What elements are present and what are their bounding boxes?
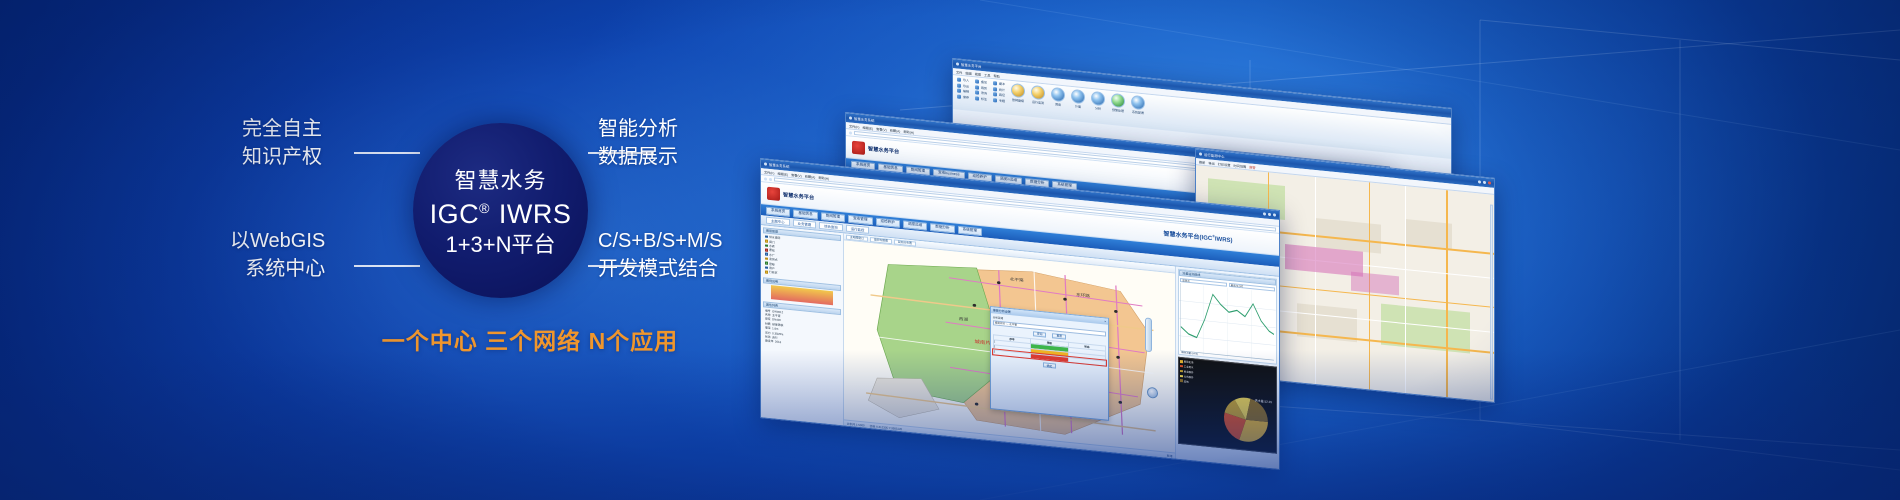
menu-item[interactable]: 编辑(E) (862, 124, 873, 130)
menu-item[interactable]: 收藏(A) (890, 127, 901, 133)
platform-title: 智慧水务平台(IGC®IWRS) (1164, 228, 1233, 244)
toolbar-item-alarm[interactable]: 报警 (1249, 164, 1255, 170)
ribbon-big-label: 计量 (1075, 104, 1081, 109)
nav-item[interactable]: 系统管理 (958, 225, 982, 235)
attr-value: 2016 (775, 340, 781, 345)
ribbon-big-button[interactable]: 预警处理 (1111, 93, 1125, 113)
nav-item[interactable]: 数据分析 (930, 223, 954, 233)
pie-legend-item: 其他 (1180, 379, 1193, 384)
toolbar-item[interactable]: 导出 (1208, 160, 1214, 166)
hub-code-secondary: IWRS (499, 199, 572, 229)
ribbon-item-label[interactable]: 路径 (999, 93, 1005, 98)
feature-bottom-left-line2: 系统中心 (230, 256, 325, 284)
toolbar-item[interactable]: 刷新 (1199, 159, 1205, 165)
statistics-icon[interactable] (993, 87, 997, 91)
ribbon-big-label: 预警处理 (1112, 108, 1124, 113)
hub-code-primary: IGC (430, 199, 480, 229)
ribbon-big-label: 运行监测 (1032, 100, 1044, 105)
ribbon-item-label[interactable]: 叠加 (981, 80, 987, 85)
layer-swatch-icon (765, 257, 768, 260)
company-logo-icon (852, 141, 865, 155)
chart-caption: 瞬时流量 (m³/h) (1181, 351, 1198, 357)
window-right-title: 运行监测中心 (1204, 152, 1224, 159)
subnav-item[interactable]: 综合查询 (819, 222, 843, 231)
label-icon[interactable] (975, 96, 979, 100)
ribbon-item-label[interactable]: 统计 (999, 87, 1005, 92)
ribbon-group: 导入 导出 编辑 保存 (957, 78, 969, 100)
nav-item[interactable]: 基础信息 (793, 209, 817, 219)
dialog-query-button[interactable]: 查询 (1033, 331, 1047, 337)
registered-mark-icon: ® (479, 200, 490, 216)
layer-swatch-icon (765, 235, 768, 238)
ribbon-big-button[interactable]: 分析 (1091, 91, 1105, 111)
layer-swatch-icon (765, 244, 768, 247)
back-arrow-icon[interactable] (849, 131, 852, 134)
menu-item[interactable]: 编辑(E) (777, 170, 788, 176)
window-middle-title: 智慧水务系统 (854, 116, 874, 123)
ribbon-big-label: 系统配置 (1132, 110, 1144, 115)
close-icon[interactable] (1273, 213, 1276, 216)
ribbon-big-button[interactable]: 运行监测 (1031, 85, 1045, 105)
ribbon-item-label[interactable]: 标注 (981, 96, 987, 101)
window-front-title: 智慧水务系统 (769, 162, 789, 169)
minimize-icon[interactable] (1478, 180, 1481, 183)
menu-item[interactable]: 查看(V) (876, 126, 887, 132)
metering-icon (1071, 89, 1085, 104)
status-coordinates: 坐标 X:412305 Y:3385120 (870, 423, 902, 430)
ribbon-big-button[interactable]: 计量 (1071, 89, 1085, 109)
connector-bottom-left (354, 265, 420, 267)
layer-tree-panel[interactable]: 图层管理 供水管网 阀门 水表 泵站 水厂 监测点 管段 用户 行政区 图例说明… (761, 225, 844, 425)
menu-item[interactable]: 编辑 (965, 70, 971, 76)
status-ready: 就绪 (1167, 453, 1173, 458)
window-icon (1199, 152, 1202, 155)
ribbon-item-label[interactable]: 缓冲 (999, 82, 1005, 87)
dialog-close-icon[interactable]: × (1104, 319, 1106, 323)
feature-top-left: 完全自主 知识产权 (242, 116, 322, 171)
layer-swatch-icon (765, 262, 768, 265)
monitoring-side-panel: 流量监测曲线 监测点 最近24小时 (1175, 267, 1279, 469)
menu-item[interactable]: 视图 (975, 71, 981, 77)
clip-icon[interactable] (975, 85, 979, 89)
subnav-item[interactable]: 主题中心 (766, 217, 790, 226)
map-canvas[interactable]: 主地图窗口 管网专题图 监测分布图 (844, 233, 1176, 458)
menu-item[interactable]: 文件(F) (849, 123, 859, 129)
ribbon-item-label[interactable]: 编辑 (963, 89, 969, 94)
subnav-item[interactable]: 业务管理 (793, 219, 817, 228)
window-back-title: 智慧水务平台 (961, 62, 981, 69)
save-icon[interactable] (957, 94, 961, 98)
export-icon[interactable] (957, 83, 961, 87)
ribbon-group: 叠加 裁剪 查询 标注 (975, 79, 987, 101)
ribbon-item-label[interactable]: 查询 (981, 91, 987, 96)
supply-pie-chart (1216, 372, 1276, 452)
feature-top-right-line2: 数据展示 (598, 144, 678, 172)
subnav-item[interactable]: 运行监控 (846, 225, 870, 234)
brand-name: 智慧水务平台 (868, 145, 899, 155)
company-logo-icon (767, 187, 780, 201)
connector-top-left (354, 152, 420, 154)
dialog-confirm-button[interactable]: 确定 (1043, 362, 1057, 368)
pipe-model-icon (1011, 83, 1025, 98)
ribbon-item-label[interactable]: 导入 (963, 78, 969, 83)
buffer-icon[interactable] (993, 81, 997, 85)
nav-item[interactable]: 管网管理 (821, 212, 845, 222)
window-front-gis-app[interactable]: 智慧水务系统 文件(F) 编辑(E) 查看(V) 收藏(A) 帮助(H) (760, 158, 1280, 470)
menu-item[interactable]: 收藏(A) (805, 173, 816, 179)
ribbon-big-label: 分析 (1095, 106, 1101, 111)
nav-item[interactable]: 营收管理 (848, 214, 872, 224)
platform-title-tail: IWRS) (1215, 236, 1233, 244)
brand-name: 智慧水务平台 (783, 191, 814, 201)
menu-item[interactable]: 工具 (984, 72, 990, 78)
close-icon[interactable] (1488, 181, 1491, 184)
minimize-icon[interactable] (1263, 212, 1266, 215)
burst-analysis-dialog[interactable]: 爆管分析设置 × 分析区域 城南片区 — 主干管 查询 重置 (990, 306, 1109, 422)
menu-item[interactable]: 文件 (956, 69, 962, 75)
ribbon-item-label[interactable]: 导出 (963, 84, 969, 89)
window-icon (764, 162, 767, 165)
attr-key: 建设年 (765, 339, 773, 344)
thematic-icon[interactable] (993, 98, 997, 102)
ribbon-big-button[interactable]: 调度 (1051, 87, 1065, 107)
analysis-icon (1091, 91, 1105, 106)
layer-swatch-icon (765, 266, 768, 269)
platform-hub-circle: 智慧水务 IGC®IWRS 1+3+N平台 (413, 123, 588, 298)
menu-item[interactable]: 帮助(H) (818, 174, 829, 180)
feature-bottom-right-line1: C/S+B/S+M/S (598, 228, 723, 256)
back-arrow-icon[interactable] (764, 177, 767, 180)
flow-chart-card[interactable]: 流量监测曲线 监测点 最近24小时 (1178, 269, 1277, 365)
monitoring-icon (1031, 85, 1045, 100)
ribbon-item-label[interactable]: 保存 (963, 95, 969, 100)
query-icon[interactable] (975, 90, 979, 94)
ribbon-big-button[interactable]: 系统配置 (1131, 95, 1145, 115)
hub-subtitle: 1+3+N平台 (445, 231, 555, 259)
menu-item[interactable]: 文件(F) (764, 169, 774, 175)
map-zoom-slider[interactable] (1145, 317, 1152, 352)
dialog-reset-button[interactable]: 重置 (1052, 333, 1066, 339)
forward-arrow-icon[interactable] (769, 177, 772, 180)
import-icon[interactable] (957, 78, 961, 82)
feature-bottom-left: 以WebGIS 系统中心 (230, 228, 325, 283)
settings-icon (1131, 95, 1145, 110)
menu-item[interactable]: 帮助 (994, 73, 1000, 79)
maximize-icon[interactable] (1483, 181, 1486, 184)
window-icon (849, 116, 852, 119)
feature-bottom-right: C/S+B/S+M/S 开发模式结合 (598, 228, 723, 283)
menu-item[interactable]: 查看(V) (791, 172, 802, 178)
feature-bottom-left-line1: 以WebGIS (230, 228, 325, 256)
platform-title-main: 智慧水务平台(IGC (1164, 231, 1213, 242)
alarm-icon (1111, 93, 1125, 108)
banner-tagline: 一个中心 三个网络 N个应用 (250, 322, 810, 356)
ribbon-big-label: 调度 (1055, 102, 1061, 107)
marketing-banner: 智慧水务 IGC®IWRS 1+3+N平台 完全自主 知识产权 智能分析 数据展… (0, 0, 1900, 500)
feature-top-left-line2: 知识产权 (242, 144, 322, 172)
hub-title: 智慧水务 (454, 163, 546, 195)
ribbon-item-label[interactable]: 裁剪 (981, 85, 987, 90)
layer-swatch-icon (765, 271, 768, 274)
layer-label: 行政区 (769, 270, 777, 275)
application-screenshot-stack: 智慧水务平台 文件 编辑 视图 工具 帮助 导入 导出 编辑 保存 叠加 裁剪 (760, 40, 1900, 370)
ribbon-big-label: 管网建模 (1012, 98, 1024, 103)
feature-top-right: 智能分析 数据展示 (598, 116, 678, 171)
route-icon[interactable] (993, 92, 997, 96)
toolbar-item[interactable]: 时间范围 (1234, 162, 1247, 168)
ribbon-big-button[interactable]: 管网建模 (1011, 83, 1025, 103)
feature-top-right-line1: 智能分析 (598, 116, 678, 144)
overlay-icon[interactable] (975, 79, 979, 83)
hub-product-code: IGC®IWRS (430, 198, 572, 231)
feature-top-left-line1: 完全自主 (242, 116, 322, 144)
status-scale: 比例尺 1:5000 (847, 421, 865, 427)
layer-swatch-icon (765, 249, 768, 252)
window-icon (956, 62, 959, 65)
edit-icon[interactable] (957, 89, 961, 93)
ribbon-group: 缓冲 统计 路径 专题 (993, 81, 1005, 103)
layer-swatch-icon (765, 253, 768, 256)
supply-composition-card[interactable]: 居民生活 工业用水 商业服务 公共服务 其他 (1178, 357, 1277, 453)
maximize-icon[interactable] (1268, 213, 1271, 216)
feature-bottom-right-line2: 开发模式结合 (598, 256, 723, 284)
dispatch-icon (1051, 87, 1065, 102)
layer-swatch-icon (765, 240, 768, 243)
map-vertical-scrollbar[interactable] (1490, 205, 1493, 400)
toolbar-item[interactable]: 打印设置 (1218, 161, 1231, 167)
ribbon-item-label[interactable]: 专题 (999, 98, 1005, 103)
menu-item[interactable]: 帮助(H) (903, 128, 914, 134)
